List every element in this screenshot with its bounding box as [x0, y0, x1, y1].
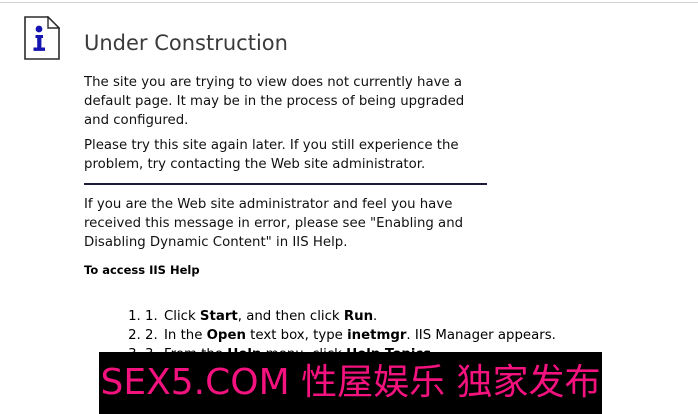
- list-item-text: In the Open text box, type inetmgr. IIS …: [164, 328, 556, 343]
- information-page-icon: [24, 16, 60, 60]
- paragraph-administrator-note: If you are the Web site administrator an…: [84, 195, 484, 252]
- list-item: 1.Click Start, and then click Run.: [145, 307, 565, 326]
- error-page-content: Under Construction The site you are tryi…: [0, 3, 698, 411]
- list-item-number: 1.: [145, 307, 161, 326]
- watermark-overlay-banner: SEX5.COM 性屋娱乐 独家发布: [99, 352, 602, 414]
- list-item: 2.In the Open text box, type inetmgr. II…: [145, 326, 565, 345]
- list-item-number: 2.: [145, 326, 161, 345]
- paragraph-site-status: The site you are trying to view does not…: [84, 73, 484, 130]
- watermark-text: SEX5.COM 性屋娱乐 独家发布: [100, 361, 600, 405]
- paragraph-try-later: Please try this site again later. If you…: [84, 136, 484, 174]
- section-divider: [84, 183, 487, 185]
- page-header: Under Construction: [24, 16, 624, 68]
- page-title: Under Construction: [84, 30, 288, 56]
- subheading-access-iis-help: To access IIS Help: [84, 262, 200, 278]
- list-item-text: Click Start, and then click Run.: [164, 309, 377, 324]
